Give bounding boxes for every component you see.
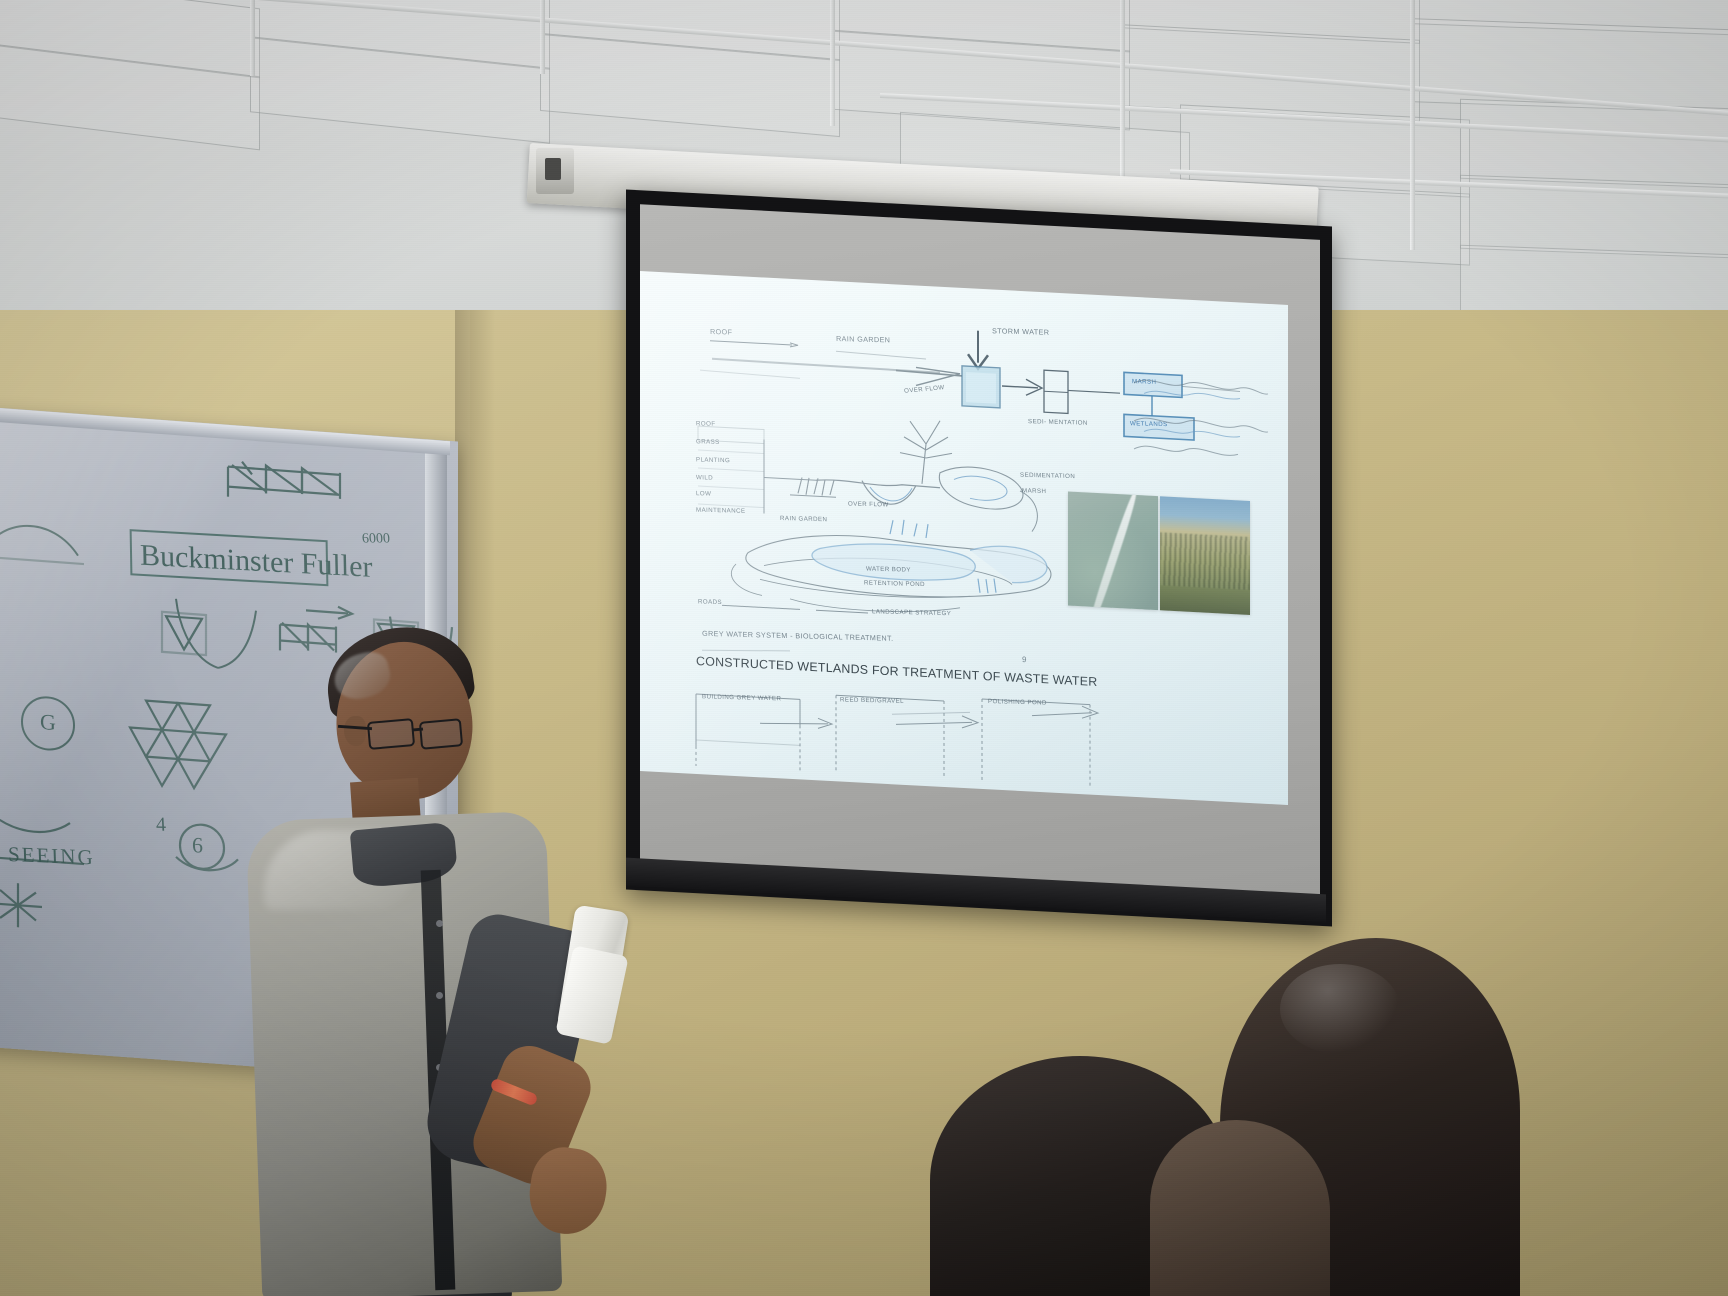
aerial-wetland-photo — [1068, 491, 1158, 610]
classroom-scene: ROOF RAIN GARDEN OVER FLOW STORM WATER S… — [0, 0, 1728, 1296]
presenter — [240, 620, 690, 1296]
screen-mount-bracket — [536, 148, 574, 194]
shirt-button — [436, 992, 443, 999]
whiteboard-note-seeing: SEEING — [8, 842, 95, 870]
sketch-label-step-polishing-pond: POLISHING POND — [988, 698, 1047, 707]
audience-head-right-highlight — [1280, 964, 1400, 1054]
shirt-button — [436, 920, 443, 927]
slide-page-number: 9 — [1022, 655, 1026, 664]
presenter-ear — [344, 716, 366, 746]
presenter-glasses — [368, 720, 484, 750]
whiteboard-note-4: 4 — [155, 814, 166, 837]
glasses-lens-right — [419, 718, 463, 750]
audience-head-front — [1150, 1120, 1330, 1296]
whiteboard-note-g: G — [40, 709, 56, 736]
projected-slide: ROOF RAIN GARDEN OVER FLOW STORM WATER S… — [640, 271, 1288, 805]
reed-bed-photo — [1160, 496, 1250, 615]
whiteboard-note-6: 6 — [192, 832, 203, 859]
glasses-lens-left — [367, 718, 415, 750]
whiteboard-note-6000: 6000 — [361, 531, 390, 547]
